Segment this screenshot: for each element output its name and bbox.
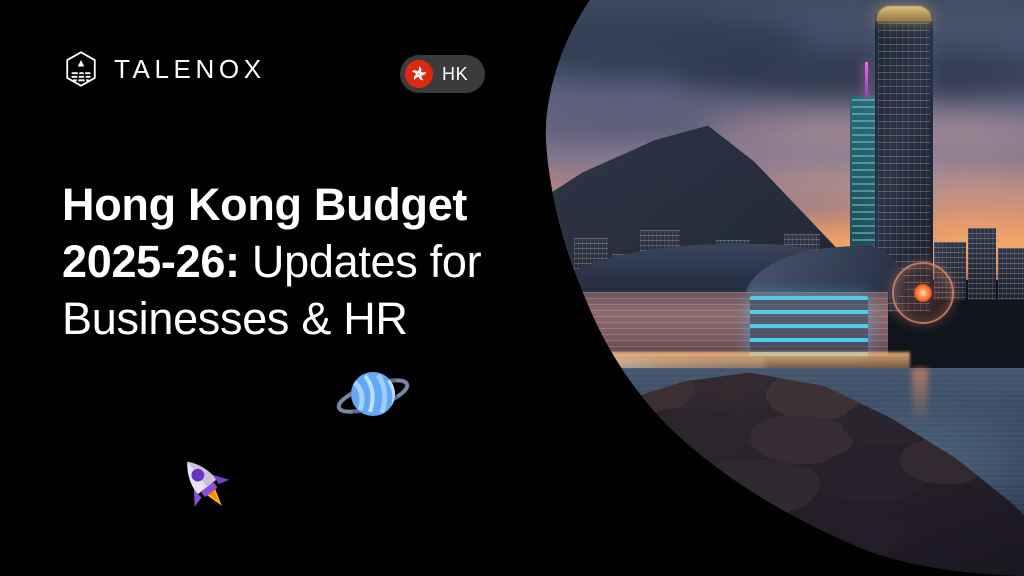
building [968,228,996,300]
convention-centre-lit-facade [750,296,868,356]
observation-wheel-hub [914,284,932,302]
cloud [670,46,1024,102]
page-title: Hong Kong Budget 2025-26: Updates for Bu… [62,176,532,347]
rock [776,506,906,562]
rocket-emoji [168,452,240,514]
building [998,248,1024,300]
hong-kong-flag-icon [405,60,433,88]
antenna-mast [865,62,868,98]
talenox-hexagon-logo-icon [62,50,100,88]
talenox-wordmark: TALENOX [114,56,266,82]
region-badge-hk[interactable]: HK [400,55,485,93]
region-badge-label: HK [442,65,468,83]
slide-canvas: TALENOX [0,0,1024,576]
rock [700,460,820,514]
brand-logo[interactable]: TALENOX [62,50,266,88]
planet-emoji [334,358,412,430]
hong-kong-harbour-photo [520,0,1024,576]
building [548,260,572,300]
ifc-tower-crown [876,6,932,22]
rock [640,408,750,458]
